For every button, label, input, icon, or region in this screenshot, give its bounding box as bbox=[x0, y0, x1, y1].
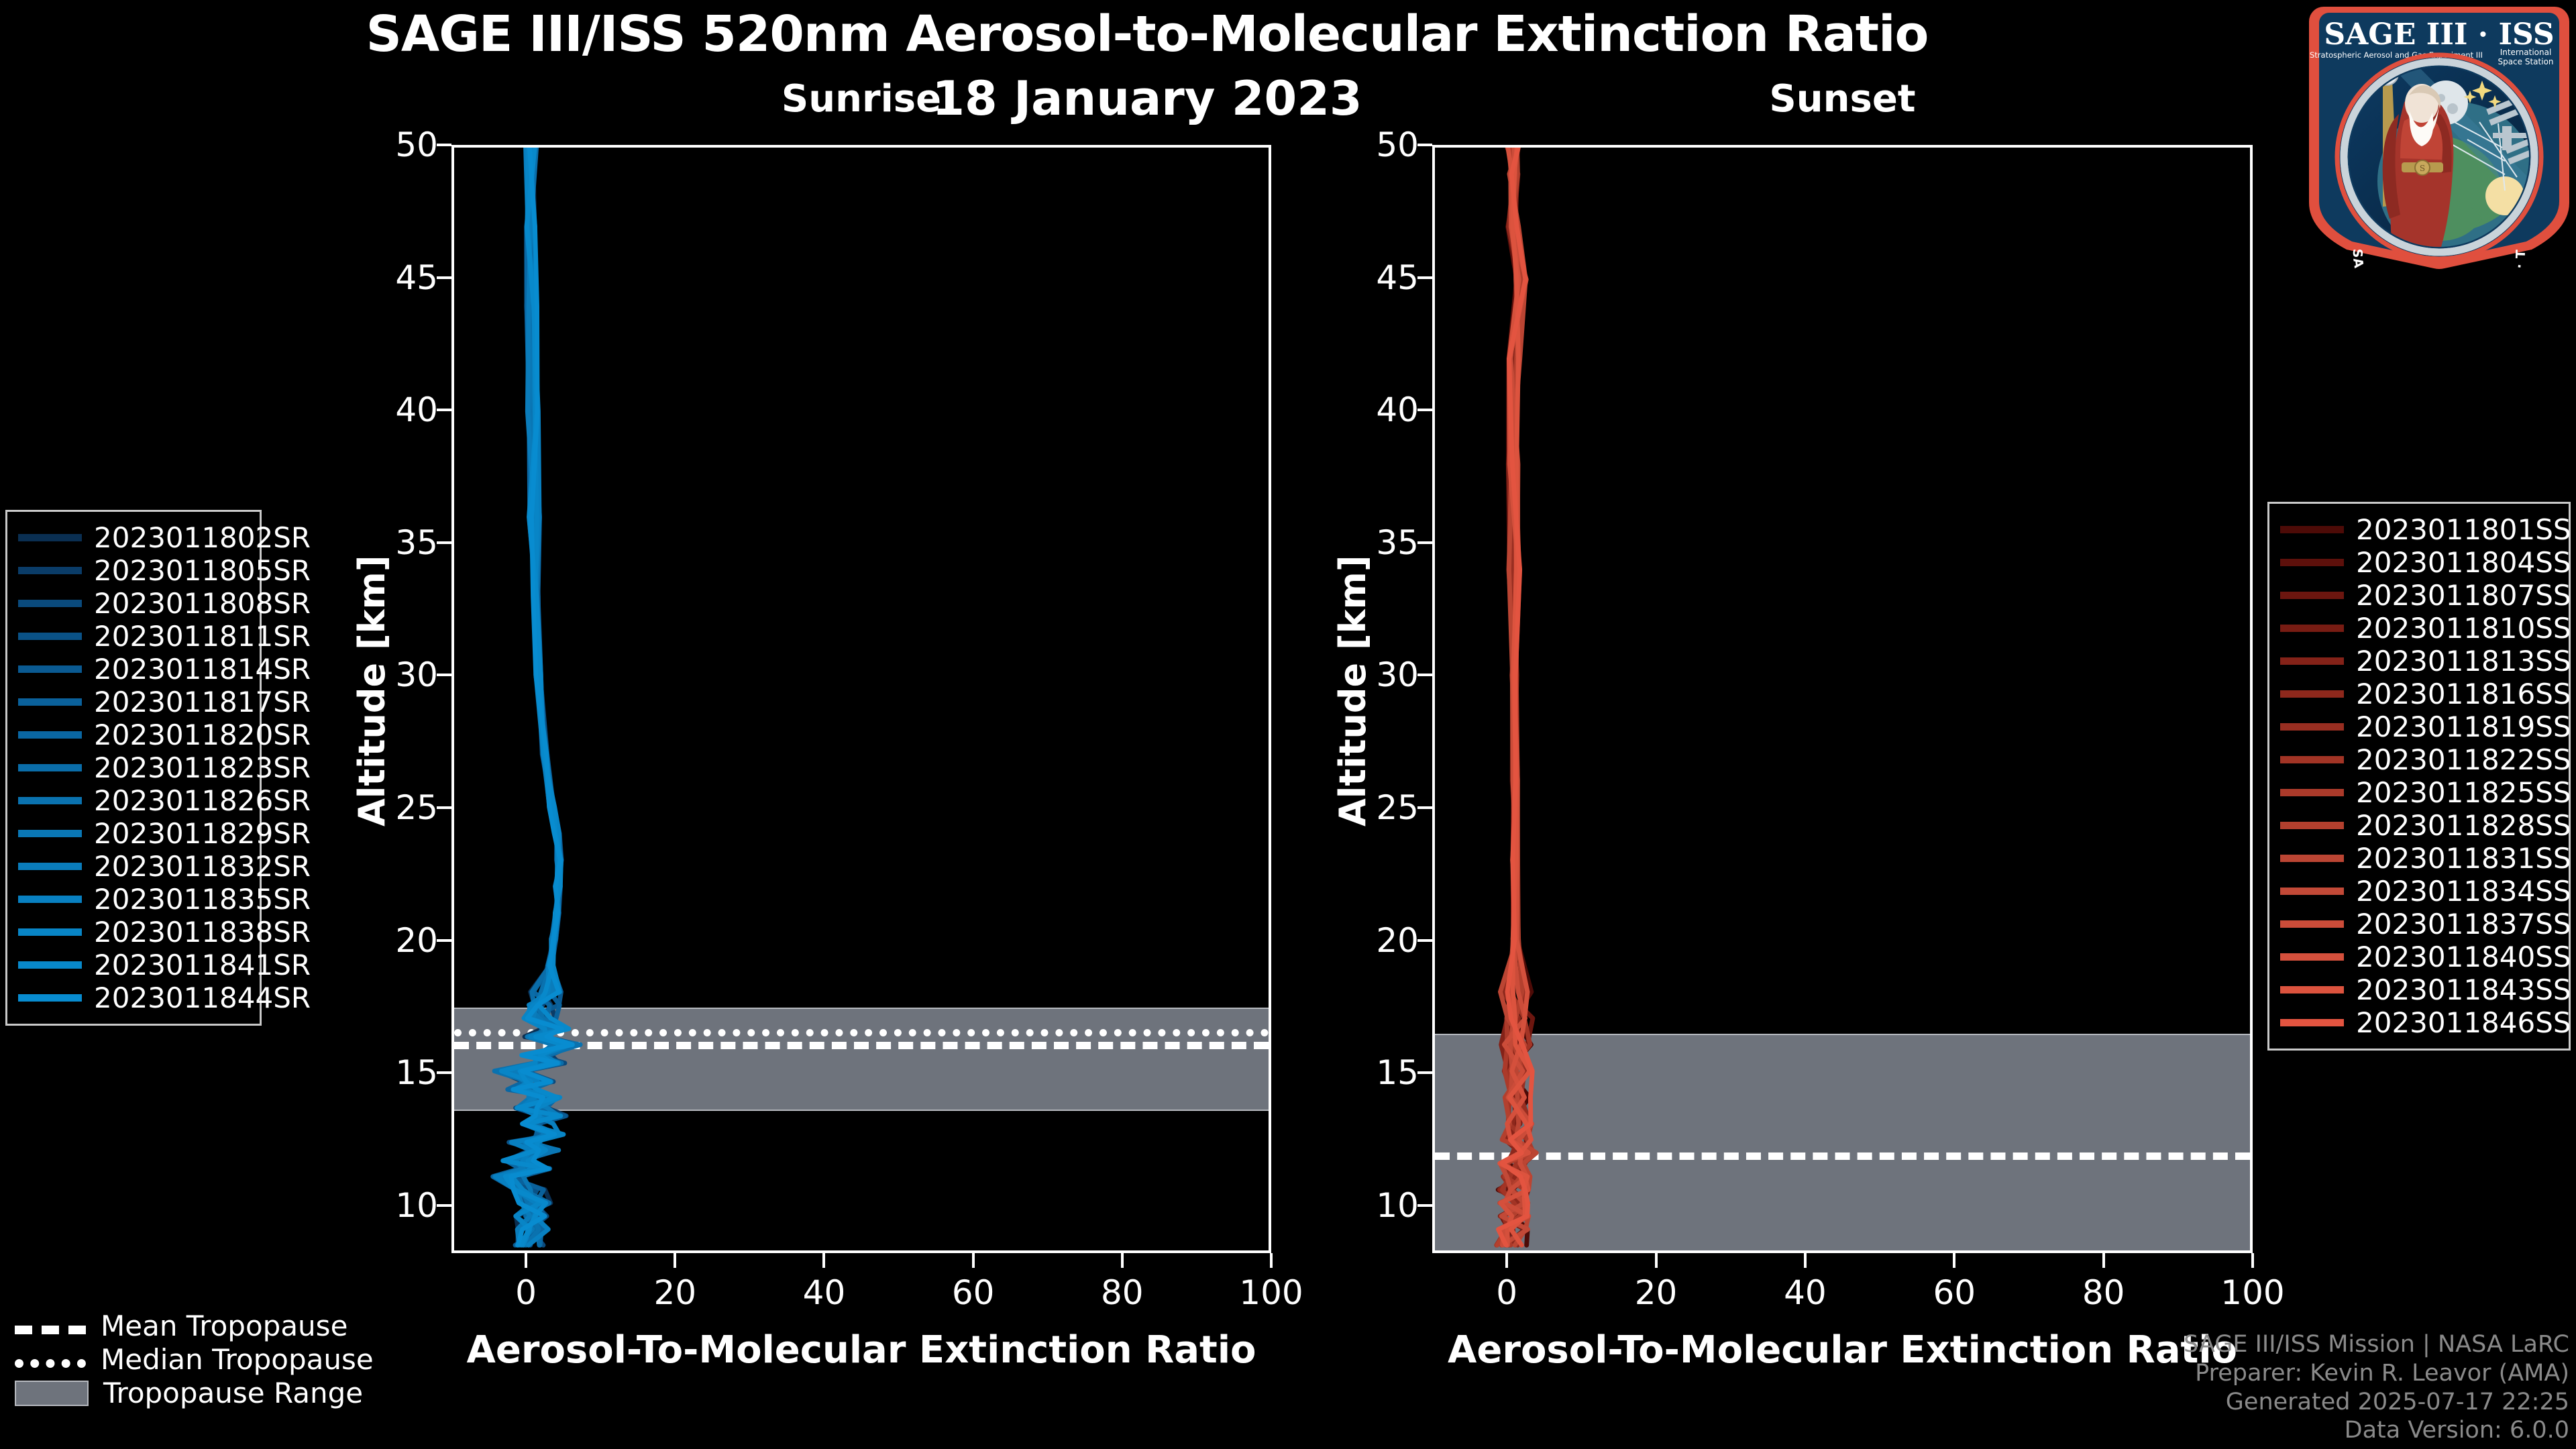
legend-color-swatch bbox=[18, 665, 82, 673]
legend-item[interactable]: 2023011804SS bbox=[2280, 546, 2558, 579]
y-axis-tick-label: 20 bbox=[378, 924, 438, 957]
legend-color-swatch bbox=[2280, 657, 2344, 665]
legend-item[interactable]: 2023011816SS bbox=[2280, 678, 2558, 710]
y-axis-tick-mark bbox=[1417, 409, 1432, 411]
y-axis-tick-label: 15 bbox=[1358, 1056, 1419, 1089]
y-axis-tick-mark bbox=[1417, 541, 1432, 544]
legend-item-label: 2023011826SR bbox=[94, 787, 311, 815]
y-axis-tick-mark bbox=[1417, 1071, 1432, 1074]
legend-color-swatch bbox=[18, 896, 82, 903]
legend-item[interactable]: 2023011834SS bbox=[2280, 875, 2558, 908]
filled-band-icon bbox=[15, 1381, 89, 1406]
y-axis-tick-mark bbox=[1417, 674, 1432, 676]
legend-item-label: 2023011841SR bbox=[94, 951, 311, 979]
x-axis-tick-label: 0 bbox=[515, 1276, 537, 1309]
legend-color-swatch bbox=[2280, 1019, 2344, 1026]
x-axis-label-sunset: Aerosol-To-Molecular Extinction Ratio bbox=[1432, 1328, 2253, 1372]
legend-color-swatch bbox=[2280, 592, 2344, 599]
x-axis-tick-mark bbox=[674, 1253, 676, 1268]
legend-item-label: 2023011817SR bbox=[94, 688, 311, 716]
y-axis-tick-label: 45 bbox=[378, 261, 438, 294]
plot-area-sunrise bbox=[451, 145, 1271, 1253]
y-axis-tick-label: 35 bbox=[378, 526, 438, 559]
legend-item-label: 2023011807SS bbox=[2356, 582, 2571, 610]
credits-block: SAGE III/ISS Mission | NASA LaRC Prepare… bbox=[2184, 1330, 2569, 1445]
legend-item[interactable]: 2023011810SS bbox=[2280, 612, 2558, 645]
legend-color-swatch bbox=[2280, 986, 2344, 994]
x-axis-tick-label: 60 bbox=[952, 1276, 995, 1309]
y-axis-tick-mark bbox=[1417, 939, 1432, 942]
key-label-range: Tropopause Range bbox=[103, 1379, 363, 1407]
legend-item[interactable]: 2023011835SR bbox=[18, 883, 249, 916]
legend-sunset[interactable]: 2023011801SS2023011804SS2023011807SS2023… bbox=[2267, 502, 2571, 1051]
legend-color-swatch bbox=[2280, 855, 2344, 862]
x-axis-tick-mark bbox=[1121, 1253, 1124, 1268]
x-axis-tick-mark bbox=[1270, 1253, 1273, 1268]
x-axis-tick-label: 0 bbox=[1496, 1276, 1517, 1309]
legend-item-label: 2023011813SS bbox=[2356, 647, 2571, 676]
logo-subtitle-right-2: Space Station bbox=[2498, 57, 2553, 66]
logo-title: SAGE III · ISS bbox=[2324, 17, 2554, 52]
sage-iii-iss-mission-patch-logo: SAGE III · ISS Stratospheric Aerosol and… bbox=[2304, 1, 2575, 272]
y-axis-tick-mark bbox=[437, 409, 451, 411]
y-axis-tick-mark bbox=[437, 1071, 451, 1074]
legend-item-label: 2023011829SR bbox=[94, 820, 311, 848]
legend-color-swatch bbox=[18, 830, 82, 837]
page-title: SAGE III/ISS 520nm Aerosol-to-Molecular … bbox=[0, 9, 2294, 59]
legend-color-swatch bbox=[18, 797, 82, 804]
legend-color-swatch bbox=[2280, 920, 2344, 928]
legend-item-label: 2023011846SS bbox=[2356, 1009, 2571, 1037]
y-axis-tick-mark bbox=[437, 939, 451, 942]
legend-item-label: 2023011811SR bbox=[94, 623, 311, 651]
legend-color-swatch bbox=[18, 698, 82, 706]
series-lines-sunrise bbox=[454, 148, 1269, 1250]
key-label-mean: Mean Tropopause bbox=[101, 1312, 347, 1340]
y-axis-tick-label: 20 bbox=[1358, 924, 1419, 957]
y-axis-label-sunset: Altitude [km] bbox=[1332, 555, 1374, 827]
legend-color-swatch bbox=[2280, 953, 2344, 961]
legend-item[interactable]: 2023011846SS bbox=[2280, 1006, 2558, 1039]
legend-item-label: 2023011804SS bbox=[2356, 549, 2571, 577]
x-axis-tick-label: 60 bbox=[1933, 1276, 1976, 1309]
legend-color-swatch bbox=[18, 633, 82, 640]
legend-item-label: 2023011801SS bbox=[2356, 516, 2571, 544]
legend-item-label: 2023011828SS bbox=[2356, 812, 2571, 840]
legend-item[interactable]: 2023011817SR bbox=[18, 686, 249, 718]
credits-line-mission: SAGE III/ISS Mission | NASA LaRC bbox=[2184, 1330, 2569, 1359]
legend-item[interactable]: 2023011819SS bbox=[2280, 710, 2558, 743]
key-row-range: Tropopause Range bbox=[5, 1377, 374, 1410]
y-axis-tick-label: 45 bbox=[1358, 261, 1419, 294]
y-axis-tick-mark bbox=[437, 806, 451, 809]
key-label-median: Median Tropopause bbox=[101, 1346, 374, 1374]
y-axis-tick-mark bbox=[1417, 144, 1432, 146]
legend-item-label: 2023011838SR bbox=[94, 918, 311, 947]
x-axis-tick-label: 20 bbox=[653, 1276, 696, 1309]
legend-color-swatch bbox=[2280, 789, 2344, 796]
legend-item-label: 2023011831SS bbox=[2356, 845, 2571, 873]
y-axis-tick-mark bbox=[437, 541, 451, 544]
legend-item[interactable]: 2023011802SR bbox=[18, 521, 249, 554]
x-axis-tick-label: 40 bbox=[803, 1276, 846, 1309]
legend-item[interactable]: 2023011829SR bbox=[18, 817, 249, 850]
legend-item-label: 2023011844SR bbox=[94, 984, 311, 1012]
x-axis-tick-mark bbox=[1505, 1253, 1508, 1268]
y-axis-tick-label: 15 bbox=[378, 1056, 438, 1089]
legend-item[interactable]: 2023011841SR bbox=[18, 949, 249, 981]
legend-color-swatch bbox=[2280, 526, 2344, 533]
legend-item[interactable]: 2023011825SS bbox=[2280, 776, 2558, 809]
legend-item[interactable]: 2023011832SR bbox=[18, 850, 249, 883]
series-lines-sunset bbox=[1435, 148, 2250, 1250]
legend-color-swatch bbox=[18, 600, 82, 607]
legend-item-label: 2023011832SR bbox=[94, 853, 311, 881]
x-axis-tick-label: 20 bbox=[1635, 1276, 1678, 1309]
legend-color-swatch bbox=[18, 534, 82, 541]
legend-item-label: 2023011802SR bbox=[94, 524, 311, 552]
x-axis-tick-label: 80 bbox=[2082, 1276, 2125, 1309]
legend-item[interactable]: 2023011807SS bbox=[2280, 579, 2558, 612]
y-axis-tick-mark bbox=[437, 1204, 451, 1207]
legend-item[interactable]: 2023011828SS bbox=[2280, 809, 2558, 842]
legend-color-swatch bbox=[18, 731, 82, 739]
legend-item-label: 2023011808SR bbox=[94, 590, 311, 618]
legend-item[interactable]: 2023011826SR bbox=[18, 784, 249, 817]
legend-item[interactable]: 2023011811SR bbox=[18, 620, 249, 653]
legend-item-label: 2023011805SR bbox=[94, 557, 311, 585]
legend-color-swatch bbox=[18, 863, 82, 870]
x-axis-tick-label: 100 bbox=[1239, 1276, 1303, 1309]
legend-item[interactable]: 2023011840SS bbox=[2280, 941, 2558, 973]
legend-item[interactable]: 2023011820SR bbox=[18, 718, 249, 751]
legend-color-swatch bbox=[2280, 690, 2344, 698]
legend-item-label: 2023011835SR bbox=[94, 885, 311, 914]
credits-line-generated: Generated 2025-07-17 22:25 bbox=[2184, 1388, 2569, 1417]
legend-item-label: 2023011843SS bbox=[2356, 976, 2571, 1004]
y-axis-tick-label: 10 bbox=[378, 1189, 438, 1222]
y-axis-tick-mark bbox=[437, 674, 451, 676]
legend-item[interactable]: 2023011823SR bbox=[18, 751, 249, 784]
x-axis-label-sunrise: Aerosol-To-Molecular Extinction Ratio bbox=[451, 1328, 1271, 1372]
key-row-mean: Mean Tropopause bbox=[5, 1309, 374, 1343]
legend-item[interactable]: 2023011814SR bbox=[18, 653, 249, 686]
legend-item-label: 2023011822SS bbox=[2356, 746, 2571, 774]
x-axis-tick-mark bbox=[1655, 1253, 1658, 1268]
y-axis-label-sunrise: Altitude [km] bbox=[351, 555, 393, 827]
x-axis-tick-mark bbox=[1804, 1253, 1807, 1268]
legend-item-label: 2023011834SS bbox=[2356, 877, 2571, 906]
legend-item-label: 2023011823SR bbox=[94, 754, 311, 782]
svg-text:S: S bbox=[2420, 164, 2425, 173]
plot-area-sunset bbox=[1432, 145, 2253, 1253]
legend-color-swatch bbox=[2280, 625, 2344, 632]
x-axis-tick-mark bbox=[2251, 1253, 2254, 1268]
legend-item[interactable]: 2023011838SR bbox=[18, 916, 249, 949]
legend-item-label: 2023011816SS bbox=[2356, 680, 2571, 708]
legend-item-label: 2023011820SR bbox=[94, 721, 311, 749]
dashed-line-icon bbox=[15, 1326, 86, 1334]
y-axis-tick-label: 50 bbox=[378, 128, 438, 162]
legend-item[interactable]: 2023011822SS bbox=[2280, 743, 2558, 776]
y-axis-tick-mark bbox=[437, 144, 451, 146]
x-axis-tick-mark bbox=[822, 1253, 825, 1268]
legend-color-swatch bbox=[18, 961, 82, 969]
legend-color-swatch bbox=[2280, 559, 2344, 566]
y-axis-tick-mark bbox=[1417, 806, 1432, 809]
legend-item[interactable]: 2023011813SS bbox=[2280, 645, 2558, 678]
legend-color-swatch bbox=[2280, 822, 2344, 829]
legend-color-swatch bbox=[2280, 888, 2344, 895]
y-axis-tick-mark bbox=[1417, 276, 1432, 279]
legend-item[interactable]: 2023011801SS bbox=[2280, 513, 2558, 546]
y-axis-tick-label: 50 bbox=[1358, 128, 1419, 162]
legend-item[interactable]: 2023011837SS bbox=[2280, 908, 2558, 941]
x-axis-tick-label: 80 bbox=[1101, 1276, 1144, 1309]
y-axis-tick-label: 40 bbox=[1358, 393, 1419, 427]
y-axis-tick-label: 35 bbox=[1358, 526, 1419, 559]
logo-subtitle-right-1: International bbox=[2500, 48, 2552, 57]
legend-color-swatch bbox=[18, 928, 82, 936]
legend-item-label: 2023011837SS bbox=[2356, 910, 2571, 938]
legend-sunrise[interactable]: 2023011802SR2023011805SR2023011808SR2023… bbox=[5, 510, 262, 1026]
y-axis-tick-label: 10 bbox=[1358, 1189, 1419, 1222]
credits-line-preparer: Preparer: Kevin R. Leavor (AMA) bbox=[2184, 1359, 2569, 1388]
legend-item[interactable]: 2023011808SR bbox=[18, 587, 249, 620]
legend-item-label: 2023011814SR bbox=[94, 655, 311, 684]
x-axis-tick-mark bbox=[2102, 1253, 2105, 1268]
legend-item-label: 2023011825SS bbox=[2356, 779, 2571, 807]
legend-item[interactable]: 2023011831SS bbox=[2280, 842, 2558, 875]
y-axis-tick-mark bbox=[1417, 1204, 1432, 1207]
legend-item[interactable]: 2023011844SR bbox=[18, 981, 249, 1014]
legend-item[interactable]: 2023011843SS bbox=[2280, 973, 2558, 1006]
legend-color-swatch bbox=[18, 764, 82, 771]
legend-item[interactable]: 2023011805SR bbox=[18, 554, 249, 587]
panel-heading-sunrise: Sunrise bbox=[451, 80, 1271, 118]
x-axis-tick-label: 40 bbox=[1784, 1276, 1827, 1309]
legend-color-swatch bbox=[2280, 756, 2344, 763]
legend-color-swatch bbox=[2280, 723, 2344, 731]
legend-item-label: 2023011840SS bbox=[2356, 943, 2571, 971]
panel-heading-sunset: Sunset bbox=[1432, 80, 2253, 118]
key-row-median: Median Tropopause bbox=[5, 1343, 374, 1377]
x-axis-tick-mark bbox=[1953, 1253, 1955, 1268]
legend-color-swatch bbox=[18, 994, 82, 1002]
tropopause-key: Mean Tropopause Median Tropopause Tropop… bbox=[5, 1309, 374, 1410]
credits-line-version: Data Version: 6.0.0 bbox=[2184, 1416, 2569, 1445]
x-axis-tick-label: 100 bbox=[2220, 1276, 2284, 1309]
legend-item-label: 2023011819SS bbox=[2356, 713, 2571, 741]
y-axis-tick-mark bbox=[437, 276, 451, 279]
legend-color-swatch bbox=[18, 567, 82, 574]
dotted-line-icon bbox=[15, 1359, 86, 1368]
x-axis-tick-mark bbox=[525, 1253, 527, 1268]
x-axis-tick-mark bbox=[972, 1253, 975, 1268]
y-axis-tick-label: 40 bbox=[378, 393, 438, 427]
legend-item-label: 2023011810SS bbox=[2356, 614, 2571, 643]
